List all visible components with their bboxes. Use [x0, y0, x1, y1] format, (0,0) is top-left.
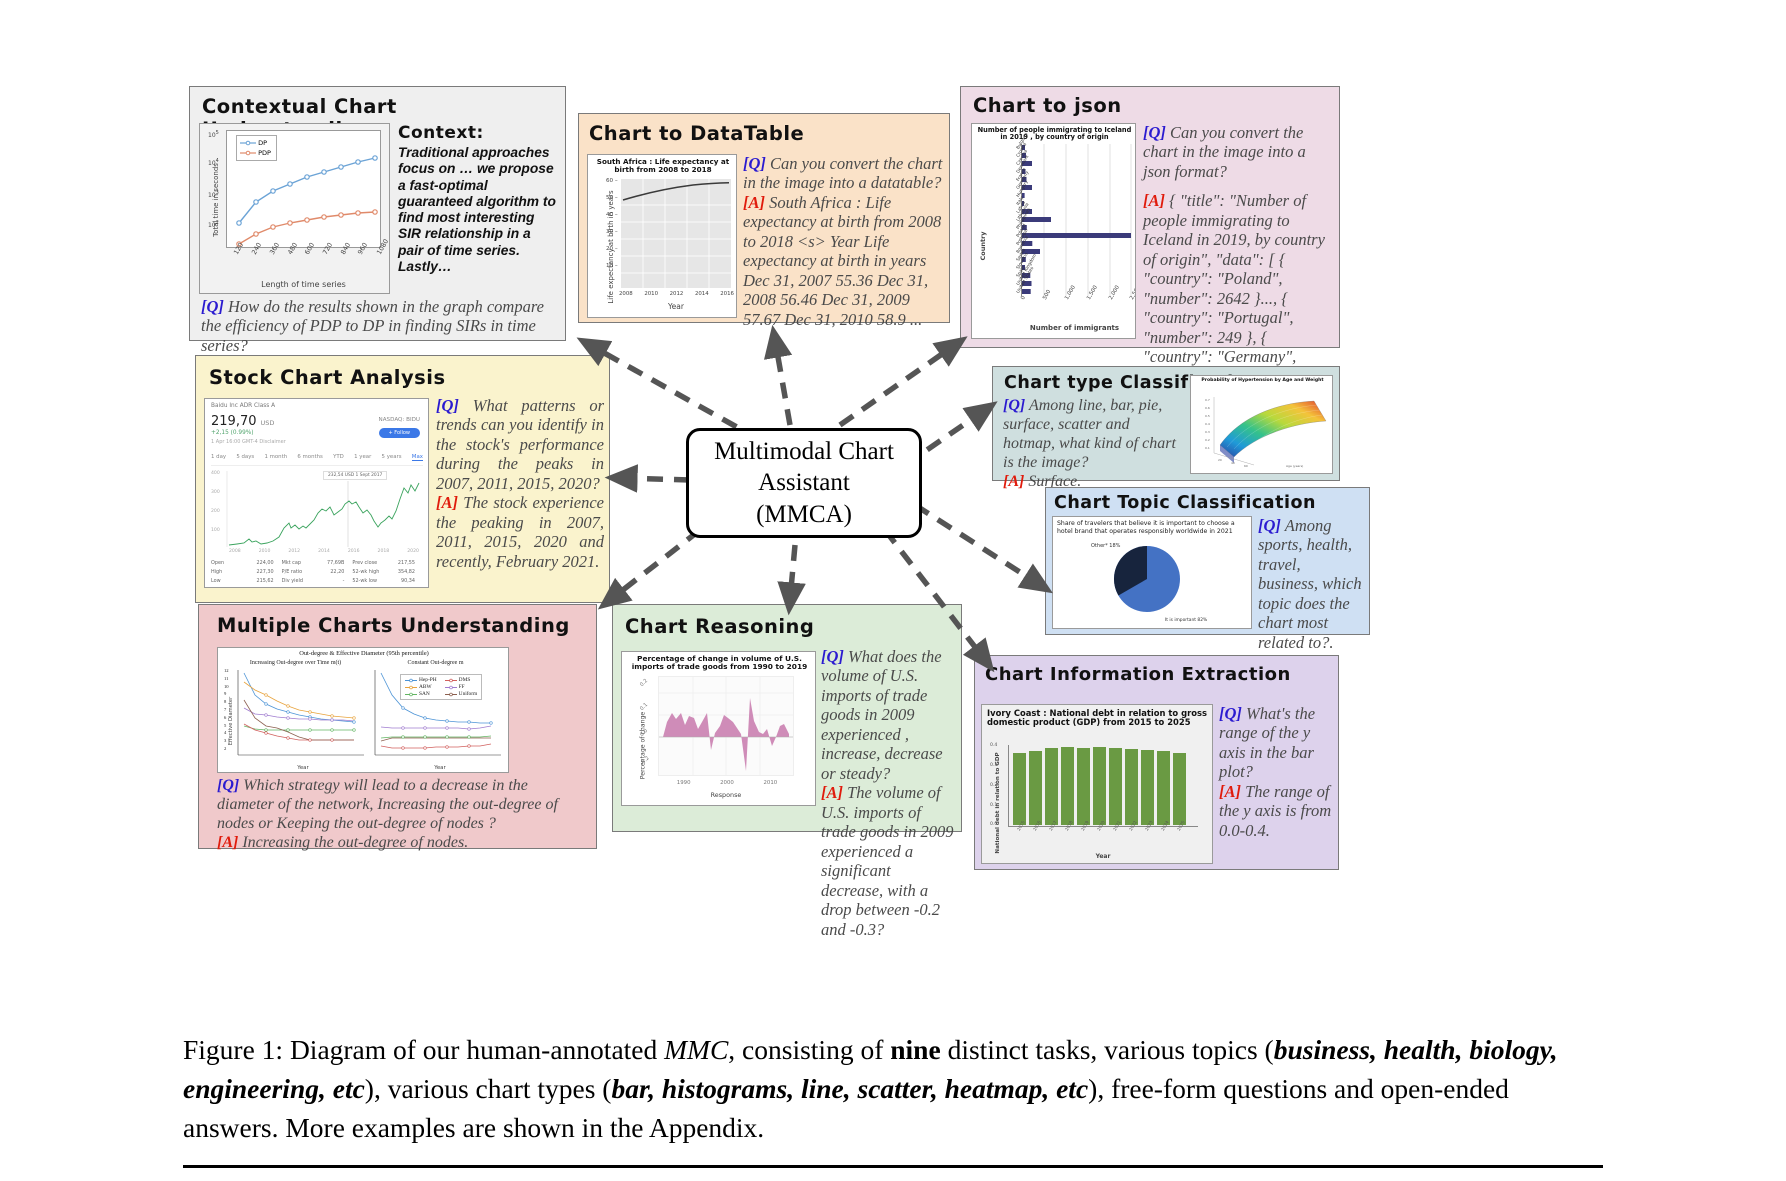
center-line-1: Multimodal Chart: [714, 436, 894, 467]
connector-arrows: [0, 0, 1786, 1181]
center-line-2: Assistant: [714, 467, 894, 498]
center-line-3: (MMCA): [714, 499, 894, 530]
center-node-mmca[interactable]: Multimodal Chart Assistant (MMCA): [686, 428, 922, 538]
figure-canvas: Contextual Chart Understanding Total tim…: [0, 0, 1786, 1181]
